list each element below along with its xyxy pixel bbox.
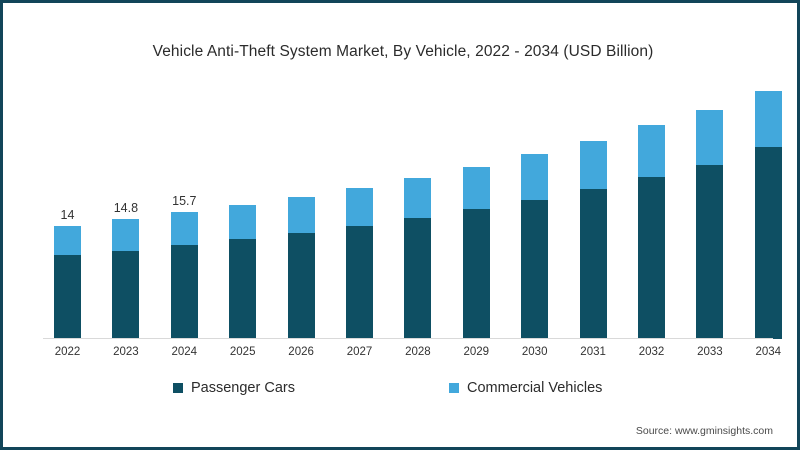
legend-label-passenger-cars: Passenger Cars xyxy=(191,380,295,396)
bar-segment-passenger-cars[interactable] xyxy=(346,226,373,339)
x-axis-tick-2026: 2026 xyxy=(276,346,326,358)
x-axis-tick-2023: 2023 xyxy=(101,346,151,358)
bar-group[interactable] xyxy=(580,84,607,339)
bar-segment-commercial-vehicles[interactable] xyxy=(346,188,373,226)
x-axis-tick-2030: 2030 xyxy=(510,346,560,358)
bar-group[interactable] xyxy=(638,84,665,339)
bar-value-label: 14.8 xyxy=(114,201,138,215)
bar-segment-commercial-vehicles[interactable] xyxy=(521,154,548,199)
bar-segment-commercial-vehicles[interactable] xyxy=(229,205,256,240)
bar-segment-commercial-vehicles[interactable] xyxy=(112,219,139,251)
chart-title: Vehicle Anti-Theft System Market, By Veh… xyxy=(3,43,800,61)
bar-segment-commercial-vehicles[interactable] xyxy=(755,91,782,147)
bar-segment-passenger-cars[interactable] xyxy=(638,177,665,339)
bar-segment-commercial-vehicles[interactable] xyxy=(580,141,607,190)
bar-group[interactable] xyxy=(404,84,431,339)
x-axis-line xyxy=(43,338,773,339)
bar-segment-passenger-cars[interactable] xyxy=(288,233,315,339)
legend-label-commercial-vehicles: Commercial Vehicles xyxy=(467,380,602,396)
bar-group[interactable]: 15.7 xyxy=(171,84,198,339)
x-axis-tick-2033: 2033 xyxy=(685,346,735,358)
bar-segment-commercial-vehicles[interactable] xyxy=(54,226,81,255)
bar-segment-passenger-cars[interactable] xyxy=(755,147,782,339)
bar-segment-passenger-cars[interactable] xyxy=(54,255,81,339)
x-axis-tick-2032: 2032 xyxy=(627,346,677,358)
bar-segment-commercial-vehicles[interactable] xyxy=(404,178,431,218)
x-axis-tick-2027: 2027 xyxy=(335,346,385,358)
x-axis-tick-2025: 2025 xyxy=(218,346,268,358)
bar-segment-passenger-cars[interactable] xyxy=(171,245,198,339)
x-axis-tick-2024: 2024 xyxy=(159,346,209,358)
legend-item-passenger-cars[interactable]: Passenger Cars xyxy=(173,380,295,396)
x-axis-tick-2031: 2031 xyxy=(568,346,618,358)
bar-group[interactable]: 14.8 xyxy=(112,84,139,339)
bar-value-label: 14 xyxy=(61,208,75,222)
bar-segment-commercial-vehicles[interactable] xyxy=(171,212,198,245)
x-axis-tick-2034: 2034 xyxy=(743,346,793,358)
bar-group[interactable]: 14 xyxy=(54,84,81,339)
bar-segment-commercial-vehicles[interactable] xyxy=(463,167,490,210)
bar-group[interactable] xyxy=(696,84,723,339)
bar-segment-passenger-cars[interactable] xyxy=(463,209,490,339)
plot-area: 1414.815.7 xyxy=(43,83,773,339)
bar-segment-passenger-cars[interactable] xyxy=(696,165,723,339)
x-axis-tick-2028: 2028 xyxy=(393,346,443,358)
source-credit: Source: www.gminsights.com xyxy=(636,425,773,437)
bar-value-label: 15.7 xyxy=(172,194,196,208)
bar-group[interactable] xyxy=(463,84,490,339)
bar-segment-commercial-vehicles[interactable] xyxy=(638,125,665,177)
bar-segment-passenger-cars[interactable] xyxy=(112,251,139,339)
bar-segment-passenger-cars[interactable] xyxy=(521,200,548,339)
bar-group[interactable] xyxy=(229,84,256,339)
chart-page: Vehicle Anti-Theft System Market, By Veh… xyxy=(0,0,800,450)
x-axis-tick-2029: 2029 xyxy=(451,346,501,358)
bar-group[interactable] xyxy=(521,84,548,339)
legend-item-commercial-vehicles[interactable]: Commercial Vehicles xyxy=(449,380,602,396)
bar-segment-commercial-vehicles[interactable] xyxy=(696,110,723,165)
legend-swatch-passenger-cars xyxy=(173,383,183,393)
bar-segment-passenger-cars[interactable] xyxy=(229,239,256,339)
bar-segment-passenger-cars[interactable] xyxy=(580,189,607,339)
bar-group[interactable] xyxy=(755,84,782,339)
x-axis-tick-2022: 2022 xyxy=(43,346,93,358)
chart-legend: Passenger Cars Commercial Vehicles xyxy=(3,380,800,402)
bar-segment-passenger-cars[interactable] xyxy=(404,218,431,339)
bar-group[interactable] xyxy=(346,84,373,339)
legend-swatch-commercial-vehicles xyxy=(449,383,459,393)
bar-group[interactable] xyxy=(288,84,315,339)
bar-segment-commercial-vehicles[interactable] xyxy=(288,197,315,233)
